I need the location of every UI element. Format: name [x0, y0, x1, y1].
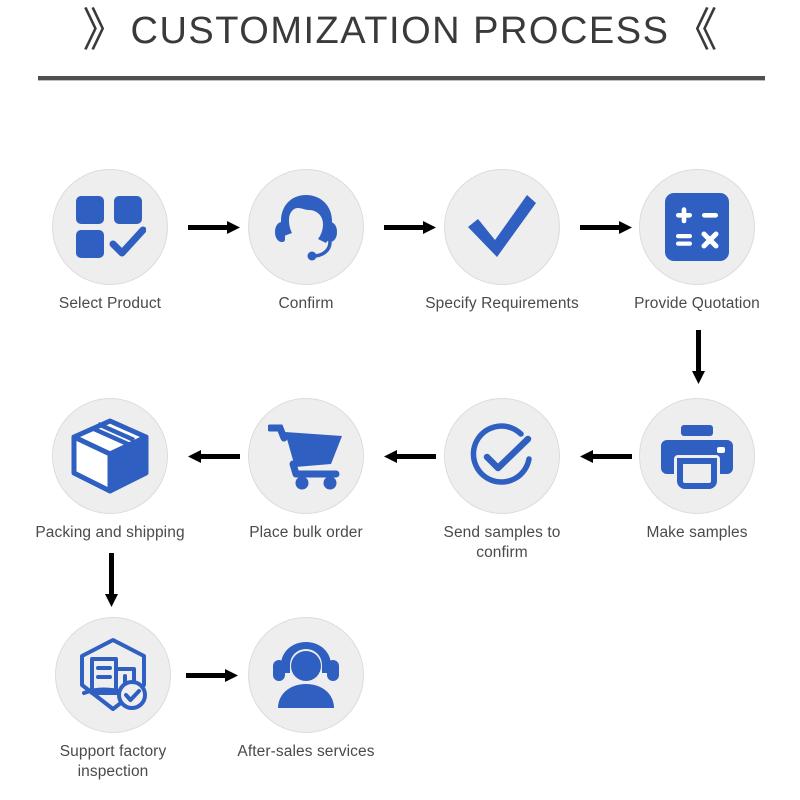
arrow-quotation-to-samples [691, 330, 706, 384]
step-1-bubble [52, 169, 168, 285]
process-step-8[interactable]: Packing and shipping [30, 398, 190, 543]
arrow-packing-to-inspection [104, 553, 119, 607]
process-step-9[interactable]: Support factory inspection [33, 617, 193, 782]
step-6-bubble [444, 398, 560, 514]
check-circle-icon [465, 419, 539, 493]
step-7-bubble [248, 398, 364, 514]
step-5-bubble [639, 398, 755, 514]
printer-icon [661, 423, 733, 489]
checkmark-icon [464, 193, 540, 261]
process-step-10[interactable]: After-sales services [226, 617, 386, 762]
step-3-label: Specify Requirements [422, 294, 582, 314]
arrow-confirm-to-specify [384, 220, 436, 235]
grid-check-icon [74, 194, 146, 260]
step-7-label: Place bulk order [226, 523, 386, 543]
step-8-label: Packing and shipping [30, 523, 190, 543]
process-step-7[interactable]: Place bulk order [226, 398, 386, 543]
step-3-bubble [444, 169, 560, 285]
arrow-send-to-bulkorder [384, 449, 436, 464]
factory-shield-icon [74, 637, 152, 713]
calculator-icon [664, 192, 730, 262]
step-9-bubble [55, 617, 171, 733]
arrow-select-to-confirm [188, 220, 240, 235]
headset-agent-icon [269, 190, 343, 264]
process-step-3[interactable]: Specify Requirements [422, 169, 582, 314]
arrow-specify-to-quotation [580, 220, 632, 235]
process-flow: Select Product Confirm Specify Requireme… [0, 0, 800, 800]
package-box-icon [71, 418, 149, 494]
step-2-label: Confirm [226, 294, 386, 314]
step-5-label: Make samples [617, 523, 777, 543]
arrow-bulkorder-to-packing [188, 449, 240, 464]
step-2-bubble [248, 169, 364, 285]
step-6-label: Send samples to confirm [422, 523, 582, 563]
step-9-label: Support factory inspection [33, 742, 193, 782]
arrow-inspection-to-aftersales [186, 668, 238, 683]
step-10-bubble [248, 617, 364, 733]
step-8-bubble [52, 398, 168, 514]
process-step-5[interactable]: Make samples [617, 398, 777, 543]
step-10-label: After-sales services [226, 742, 386, 762]
process-step-1[interactable]: Select Product [30, 169, 190, 314]
process-step-6[interactable]: Send samples to confirm [422, 398, 582, 563]
process-step-2[interactable]: Confirm [226, 169, 386, 314]
process-step-4[interactable]: Provide Quotation [617, 169, 777, 314]
shopping-cart-icon [268, 422, 344, 490]
support-person-icon [269, 640, 343, 710]
step-1-label: Select Product [30, 294, 190, 314]
step-4-bubble [639, 169, 755, 285]
step-4-label: Provide Quotation [617, 294, 777, 314]
arrow-samples-to-send [580, 449, 632, 464]
